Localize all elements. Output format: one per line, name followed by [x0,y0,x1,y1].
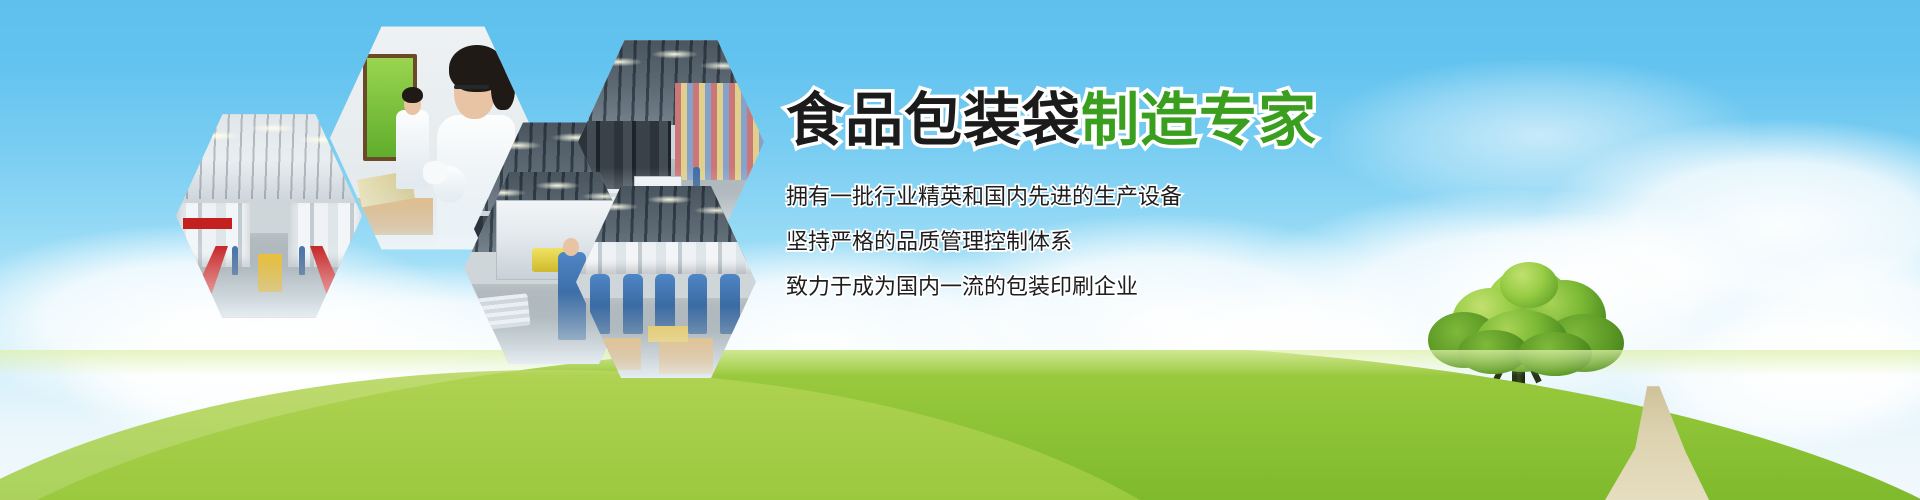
subtitle-line-3: 致力于成为国内一流的包装印刷企业 [786,276,1486,298]
banner-copy: 食品包装袋制造专家 拥有一批行业精英和国内先进的生产设备 坚持严格的品质管理控制… [786,92,1486,298]
subtitle-list: 拥有一批行业精英和国内先进的生产设备 坚持严格的品质管理控制体系 致力于成为国内… [786,186,1486,298]
subtitle-line-2: 坚持严格的品质管理控制体系 [786,231,1486,253]
headline-primary: 食品包装袋 [786,88,1081,153]
subtitle-line-1: 拥有一批行业精英和国内先进的生产设备 [786,186,1486,208]
headline-accent: 制造专家 [1081,88,1317,153]
photo-collage [0,0,820,360]
grass-field [0,350,1920,500]
page-title: 食品包装袋制造专家 [786,92,1486,150]
hero-banner: 食品包装袋制造专家 拥有一批行业精英和国内先进的生产设备 坚持严格的品质管理控制… [0,0,1920,500]
